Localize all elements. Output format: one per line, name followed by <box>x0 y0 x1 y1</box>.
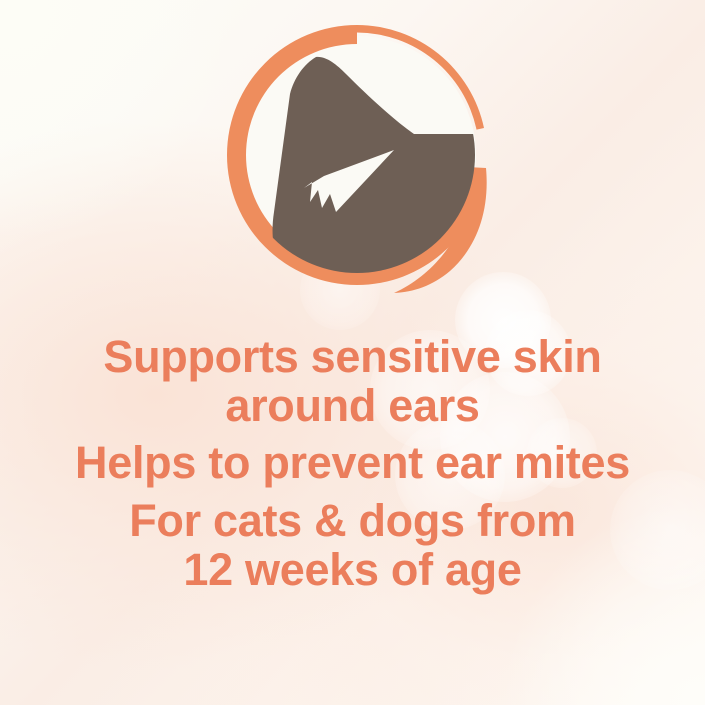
benefit-line-1: Supports sensitive skin around ears <box>14 333 691 431</box>
benefit-line-2: Helps to prevent ear mites <box>14 439 691 488</box>
benefit-line-3: For cats & dogs from 12 weeks of age <box>14 497 691 595</box>
dog-ear-logo-icon <box>218 16 496 294</box>
benefits-list: Supports sensitive skin around ears Help… <box>0 333 705 595</box>
product-benefits-card: Supports sensitive skin around ears Help… <box>0 0 705 705</box>
